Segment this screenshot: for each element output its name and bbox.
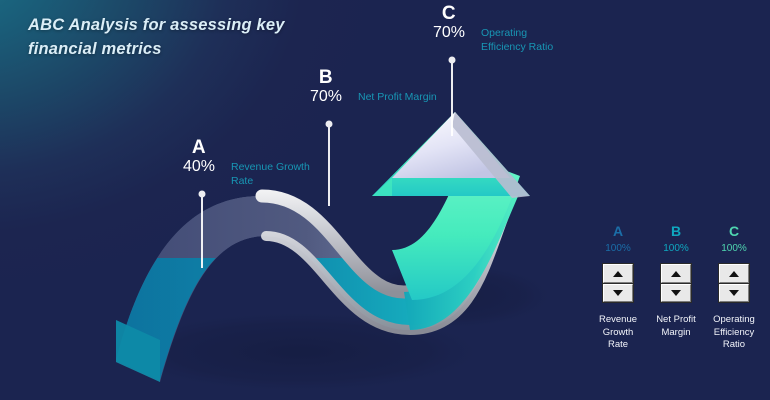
callout-a: A 40% Revenue Growth Rate (176, 138, 317, 188)
legend-a-percent: 100% (605, 243, 631, 254)
stepper-b-decrement-button[interactable] (661, 284, 691, 303)
legend-a-letter: A (613, 224, 623, 239)
legend-column-b: B 100% Net Profit Margin (650, 224, 702, 351)
legend-a-label: Revenue Growth Rate (599, 314, 637, 351)
stepper-c-increment-button[interactable] (719, 264, 749, 283)
caret-down-icon (671, 290, 681, 296)
caret-down-icon (729, 290, 739, 296)
stepper-a[interactable] (603, 264, 633, 302)
callout-c-metric: Operating Efficiency Ratio (481, 23, 569, 54)
callout-b-letter: B (303, 68, 349, 87)
caret-down-icon (613, 290, 623, 296)
callout-c-value: 70% (426, 23, 472, 42)
callout-a-metric: Revenue Growth Rate (231, 157, 317, 188)
page-title: ABC Analysis for assessing key financial… (28, 14, 358, 62)
infographic-canvas: ABC Analysis for assessing key financial… (0, 0, 770, 400)
callout-a-leader-line (201, 194, 203, 268)
legend-b-percent: 100% (663, 243, 689, 254)
callout-b: B 70% Net Profit Margin (303, 68, 450, 106)
metric-legend: A 100% Revenue Growth Rate B 100% (592, 224, 760, 351)
callout-c: C 70% Operating Efficiency Ratio (426, 4, 569, 54)
callout-b-dot (326, 121, 333, 128)
stepper-c[interactable] (719, 264, 749, 302)
stepper-b-increment-button[interactable] (661, 264, 691, 283)
legend-b-label: Net Profit Margin (656, 314, 696, 339)
stepper-b[interactable] (661, 264, 691, 302)
callout-b-metric: Net Profit Margin (358, 87, 450, 104)
legend-b-letter: B (671, 224, 681, 239)
callout-b-leader-line (328, 124, 330, 206)
legend-c-percent: 100% (721, 243, 747, 254)
legend-column-c: C 100% Operating Efficiency Ratio (708, 224, 760, 351)
caret-up-icon (729, 271, 739, 277)
stepper-c-decrement-button[interactable] (719, 284, 749, 303)
callout-a-dot (199, 191, 206, 198)
caret-up-icon (613, 271, 623, 277)
stepper-a-increment-button[interactable] (603, 264, 633, 283)
caret-up-icon (671, 271, 681, 277)
legend-column-a: A 100% Revenue Growth Rate (592, 224, 644, 351)
legend-c-letter: C (729, 224, 739, 239)
callout-a-value: 40% (176, 157, 222, 176)
callout-c-leader-line (451, 60, 453, 136)
callout-b-value: 70% (303, 87, 349, 106)
callout-c-dot (449, 57, 456, 64)
callout-a-letter: A (176, 138, 222, 157)
stepper-a-decrement-button[interactable] (603, 284, 633, 303)
legend-c-label: Operating Efficiency Ratio (713, 314, 755, 351)
callout-c-letter: C (426, 4, 472, 23)
